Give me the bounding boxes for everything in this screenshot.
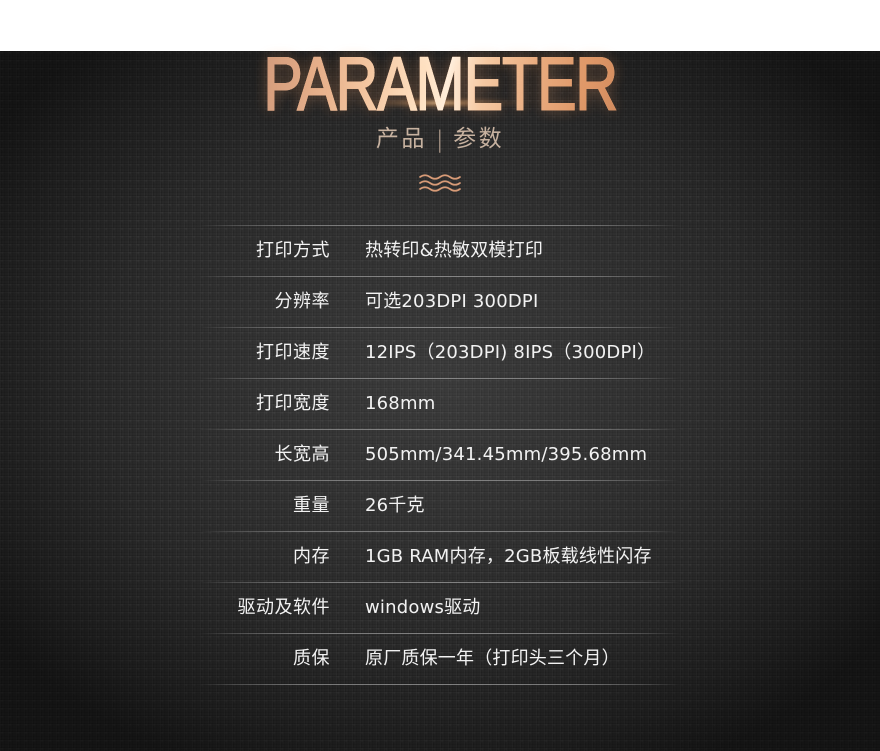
table-row: 质保 原厂质保一年（打印头三个月） xyxy=(200,634,680,684)
table-row: 重量 26千克 xyxy=(200,481,680,531)
page-subtitle: 产品|参数 xyxy=(0,124,880,154)
spec-label: 打印宽度 xyxy=(200,393,334,415)
spec-value: 原厂质保一年（打印头三个月） xyxy=(334,648,680,670)
specification-table: 打印方式 热转印&热敏双模打印 分辨率 可选203DPI 300DPI 打印速度… xyxy=(200,225,680,685)
spec-label: 重量 xyxy=(200,495,334,517)
spec-value: 26千克 xyxy=(334,495,680,517)
header-block: PARAMETER 产品|参数 xyxy=(0,46,880,199)
spec-label: 分辨率 xyxy=(200,291,334,313)
wave-divider-icon xyxy=(418,172,462,194)
table-row: 驱动及软件 windows驱动 xyxy=(200,583,680,633)
page-title: PARAMETER xyxy=(263,46,617,122)
table-row: 打印宽度 168mm xyxy=(200,379,680,429)
spec-label: 打印速度 xyxy=(200,342,334,364)
spec-label: 打印方式 xyxy=(200,240,334,262)
spec-value: windows驱动 xyxy=(334,597,680,619)
spec-value: 热转印&热敏双模打印 xyxy=(334,240,680,262)
spec-label: 内存 xyxy=(200,546,334,568)
table-divider xyxy=(200,684,680,685)
page-content: PARAMETER 产品|参数 打印方式 热转印&热敏双模打印 xyxy=(0,46,880,685)
spec-label: 驱动及软件 xyxy=(200,597,334,619)
spec-label: 质保 xyxy=(200,648,334,670)
table-row: 内存 1GB RAM内存，2GB板载线性闪存 xyxy=(200,532,680,582)
product-parameter-page: PARAMETER 产品|参数 打印方式 热转印&热敏双模打印 xyxy=(0,46,880,751)
title-wrap: PARAMETER xyxy=(0,46,880,114)
table-row: 打印速度 12IPS（203DPI) 8IPS（300DPI） xyxy=(200,328,680,378)
spec-value: 1GB RAM内存，2GB板载线性闪存 xyxy=(334,546,680,568)
spec-value: 505mm/341.45mm/395.68mm xyxy=(334,444,680,466)
spec-label: 长宽高 xyxy=(200,444,334,466)
table-row: 分辨率 可选203DPI 300DPI xyxy=(200,277,680,327)
subtitle-left: 产品 xyxy=(376,126,427,152)
subtitle-right: 参数 xyxy=(453,126,504,152)
spec-value: 168mm xyxy=(334,393,680,415)
subtitle-separator: | xyxy=(436,125,446,155)
spec-value: 可选203DPI 300DPI xyxy=(334,291,680,313)
table-row: 打印方式 热转印&热敏双模打印 xyxy=(200,226,680,276)
spec-value: 12IPS（203DPI) 8IPS（300DPI） xyxy=(334,342,680,364)
table-row: 长宽高 505mm/341.45mm/395.68mm xyxy=(200,430,680,480)
